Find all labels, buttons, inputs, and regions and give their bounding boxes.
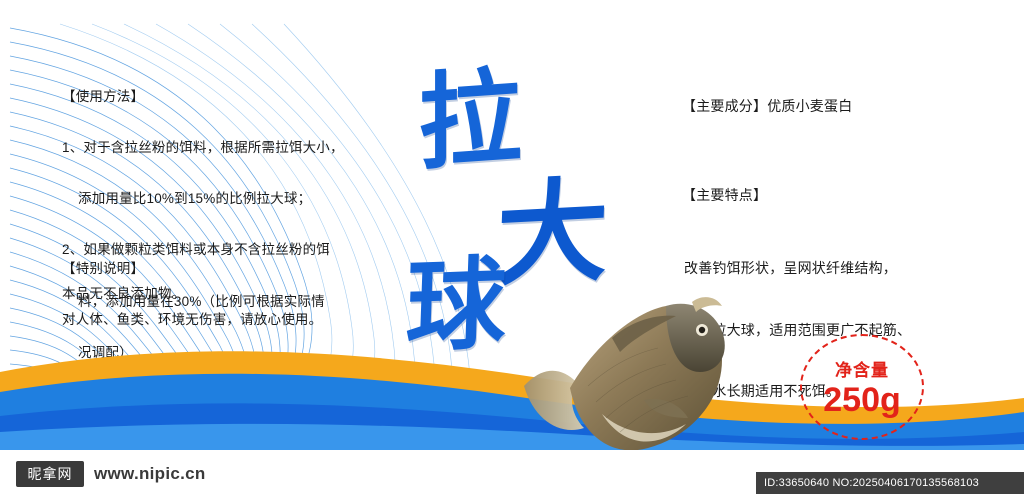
special-notes: 【特别说明】 本品无不良添加物。 对人体、鱼类、环境无伤害，请放心使用。 bbox=[62, 230, 392, 333]
site-logo[interactable]: 昵拿网 bbox=[16, 461, 84, 487]
product-label-artwork: 【使用方法】 1、对于含拉丝粉的饵料，根据所需拉饵大小， 添加用量比10%到15… bbox=[0, 18, 1024, 450]
screenshot-root: 【使用方法】 1、对于含拉丝粉的饵料，根据所需拉饵大小， 添加用量比10%到15… bbox=[0, 0, 1024, 498]
usage-heading: 【使用方法】 bbox=[62, 84, 392, 110]
site-url-text[interactable]: www.nipic.cn bbox=[94, 464, 206, 484]
net-weight-label: 净含量 bbox=[835, 356, 889, 381]
usage-line-1b: 添加用量比10%到15%的比例拉大球； bbox=[62, 186, 392, 212]
fish-image bbox=[516, 268, 756, 450]
net-weight-value: 250g bbox=[823, 383, 901, 419]
usage-line-1: 1、对于含拉丝粉的饵料，根据所需拉饵大小， bbox=[62, 135, 392, 161]
special-heading: 【特别说明】 bbox=[62, 261, 144, 276]
net-weight-seal: 净含量 250g bbox=[800, 334, 924, 440]
image-id-badge: ID:33650640 NO:20250406170135568103 bbox=[756, 472, 1024, 494]
ingredient-heading: 【主要成分】优质小麦蛋白 bbox=[682, 93, 1002, 120]
footer-bar: 昵拿网 www.nipic.cn ID:33650640 NO:20250406… bbox=[0, 450, 1024, 498]
special-line-1: 本品无不良添加物。 bbox=[62, 286, 185, 301]
brand-char-1: 拉 bbox=[418, 64, 522, 176]
feature-heading: 【主要特点】 bbox=[682, 182, 1002, 209]
